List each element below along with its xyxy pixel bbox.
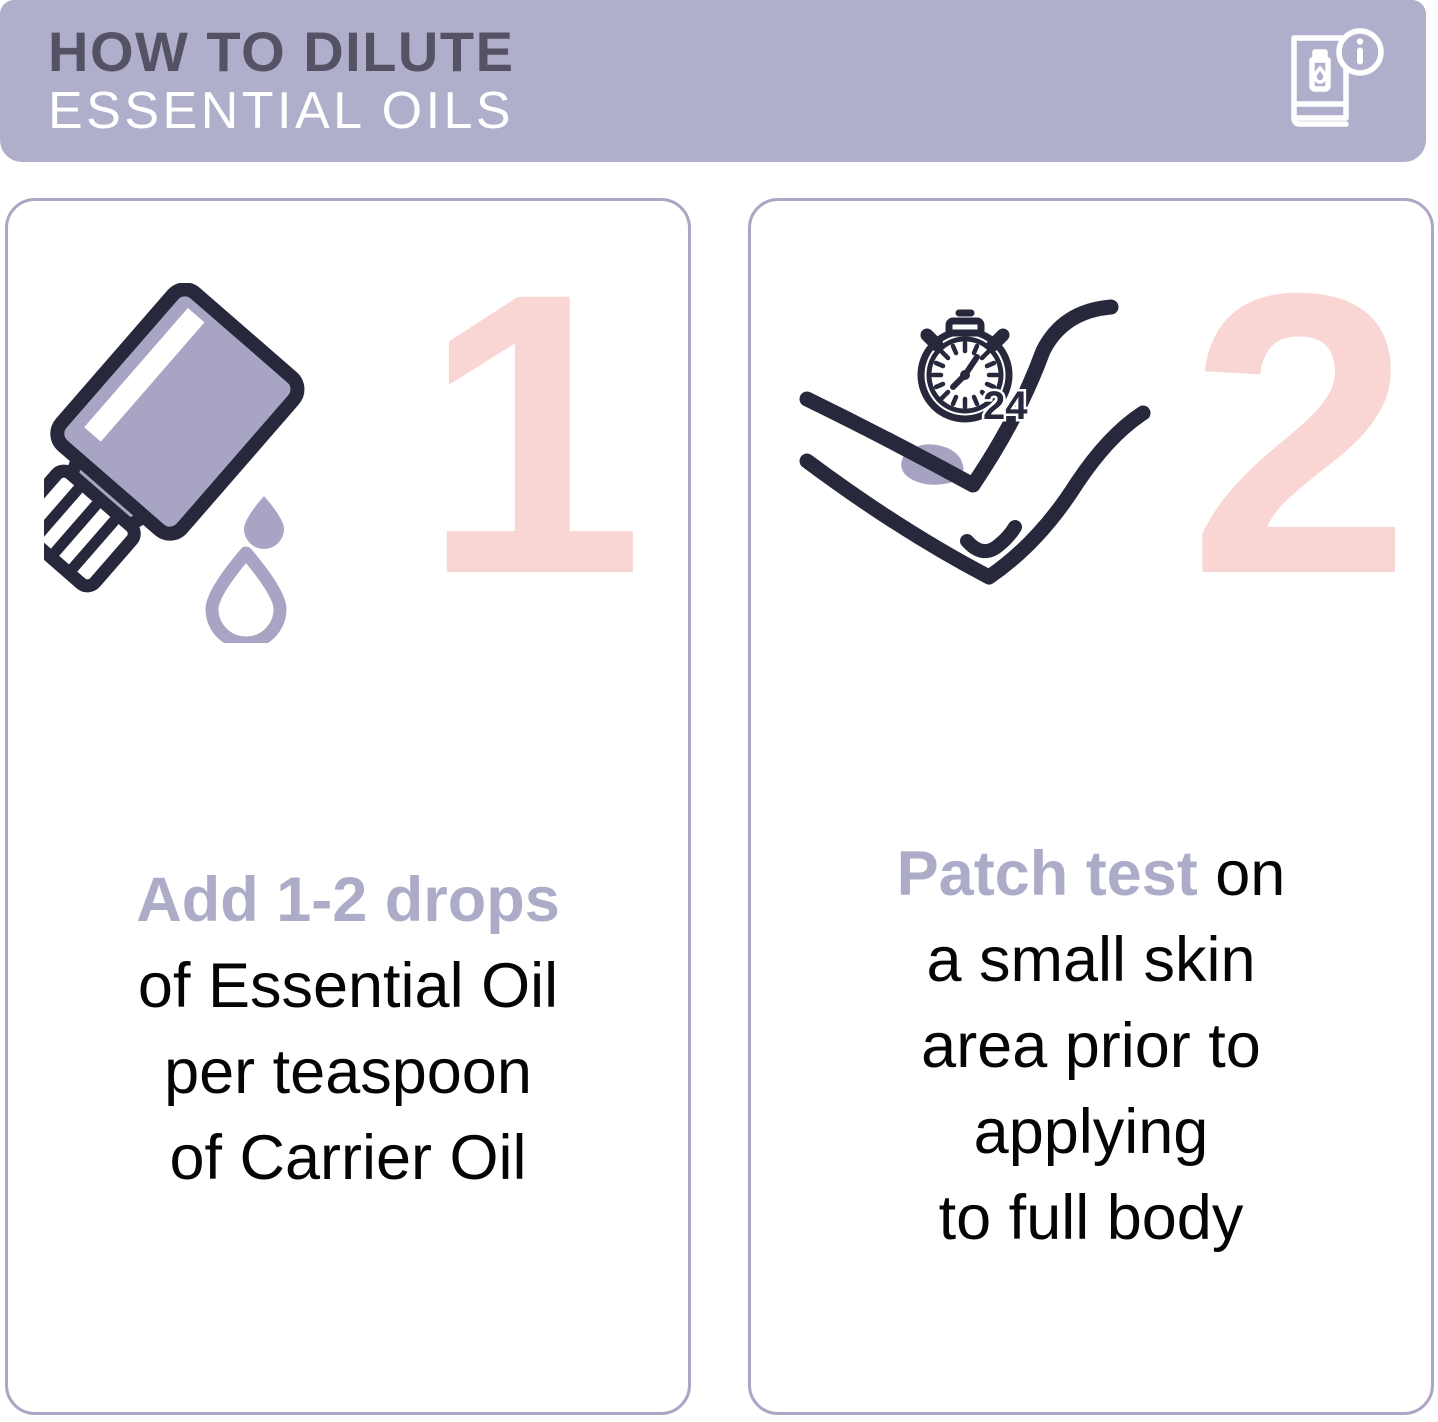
oil-bottle-manual-info-icon — [1284, 26, 1388, 134]
text-line: area prior to — [771, 1003, 1411, 1089]
header-text-block: HOW TO DILUTE ESSENTIAL OILS — [48, 22, 514, 140]
stopwatch-hours-label: 24 — [983, 384, 1028, 428]
accent-phrase: Add 1-2 drops — [136, 865, 560, 935]
text-line: of Carrier Oil — [28, 1115, 668, 1201]
text-line: Add 1-2 drops — [28, 857, 668, 943]
step-card-2-text: Patch test on a small skin area prior to… — [751, 831, 1431, 1261]
text-line: Patch test on — [771, 831, 1411, 917]
bent-arm-patch-test-stopwatch-icon: 24 — [791, 289, 1231, 609]
step-number-badge-1: 1 — [422, 249, 636, 619]
accent-phrase: Patch test — [897, 839, 1198, 909]
page-subtitle: ESSENTIAL OILS — [48, 82, 514, 140]
text-line: a small skin — [771, 917, 1411, 1003]
step-card-1: 1 — [5, 198, 691, 1415]
page-title: HOW TO DILUTE — [48, 22, 514, 82]
steps-container: 1 — [0, 198, 1438, 1420]
step-card-2-illustration-area: 2 — [751, 201, 1431, 671]
plain-phrase: on — [1198, 839, 1286, 909]
step-card-1-illustration-area: 1 — [8, 201, 688, 671]
tilted-oil-bottle-dripping-icon — [44, 283, 344, 643]
text-line: per teaspoon — [28, 1029, 668, 1115]
header-bar: HOW TO DILUTE ESSENTIAL OILS — [0, 0, 1426, 162]
step-card-1-text: Add 1-2 drops of Essential Oil per teasp… — [8, 857, 688, 1201]
step-card-2: 2 — [748, 198, 1434, 1415]
text-line: of Essential Oil — [28, 943, 668, 1029]
text-line: applying — [771, 1089, 1411, 1175]
text-line: to full body — [771, 1175, 1411, 1261]
